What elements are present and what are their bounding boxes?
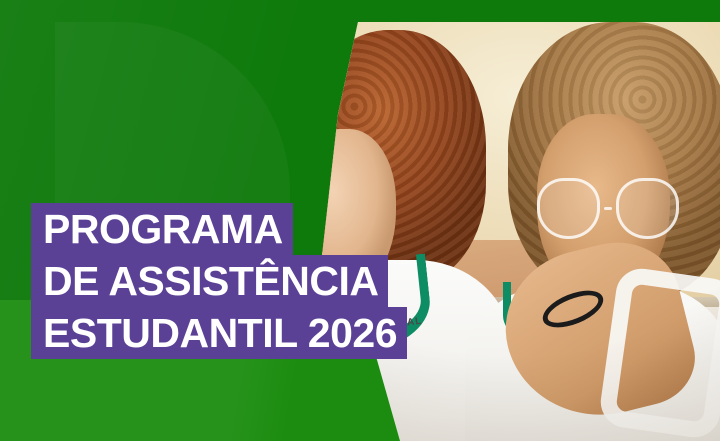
page-title: PROGRAMA DE ASSISTÊNCIA ESTUDANTIL 2026	[31, 203, 407, 359]
eyeglasses-right-lens	[616, 178, 679, 238]
eyeglasses-icon	[537, 181, 680, 235]
eyeglasses-bridge	[604, 207, 612, 210]
eyeglasses-left-lens	[537, 178, 600, 238]
headline-line-3: ESTUDANTIL 2026	[31, 307, 407, 359]
headline-line-2: DE ASSISTÊNCIA	[31, 255, 388, 307]
promotional-banner: DERAL	[0, 0, 720, 441]
white-object	[598, 265, 720, 440]
headline-line-1: PROGRAMA	[31, 203, 293, 255]
